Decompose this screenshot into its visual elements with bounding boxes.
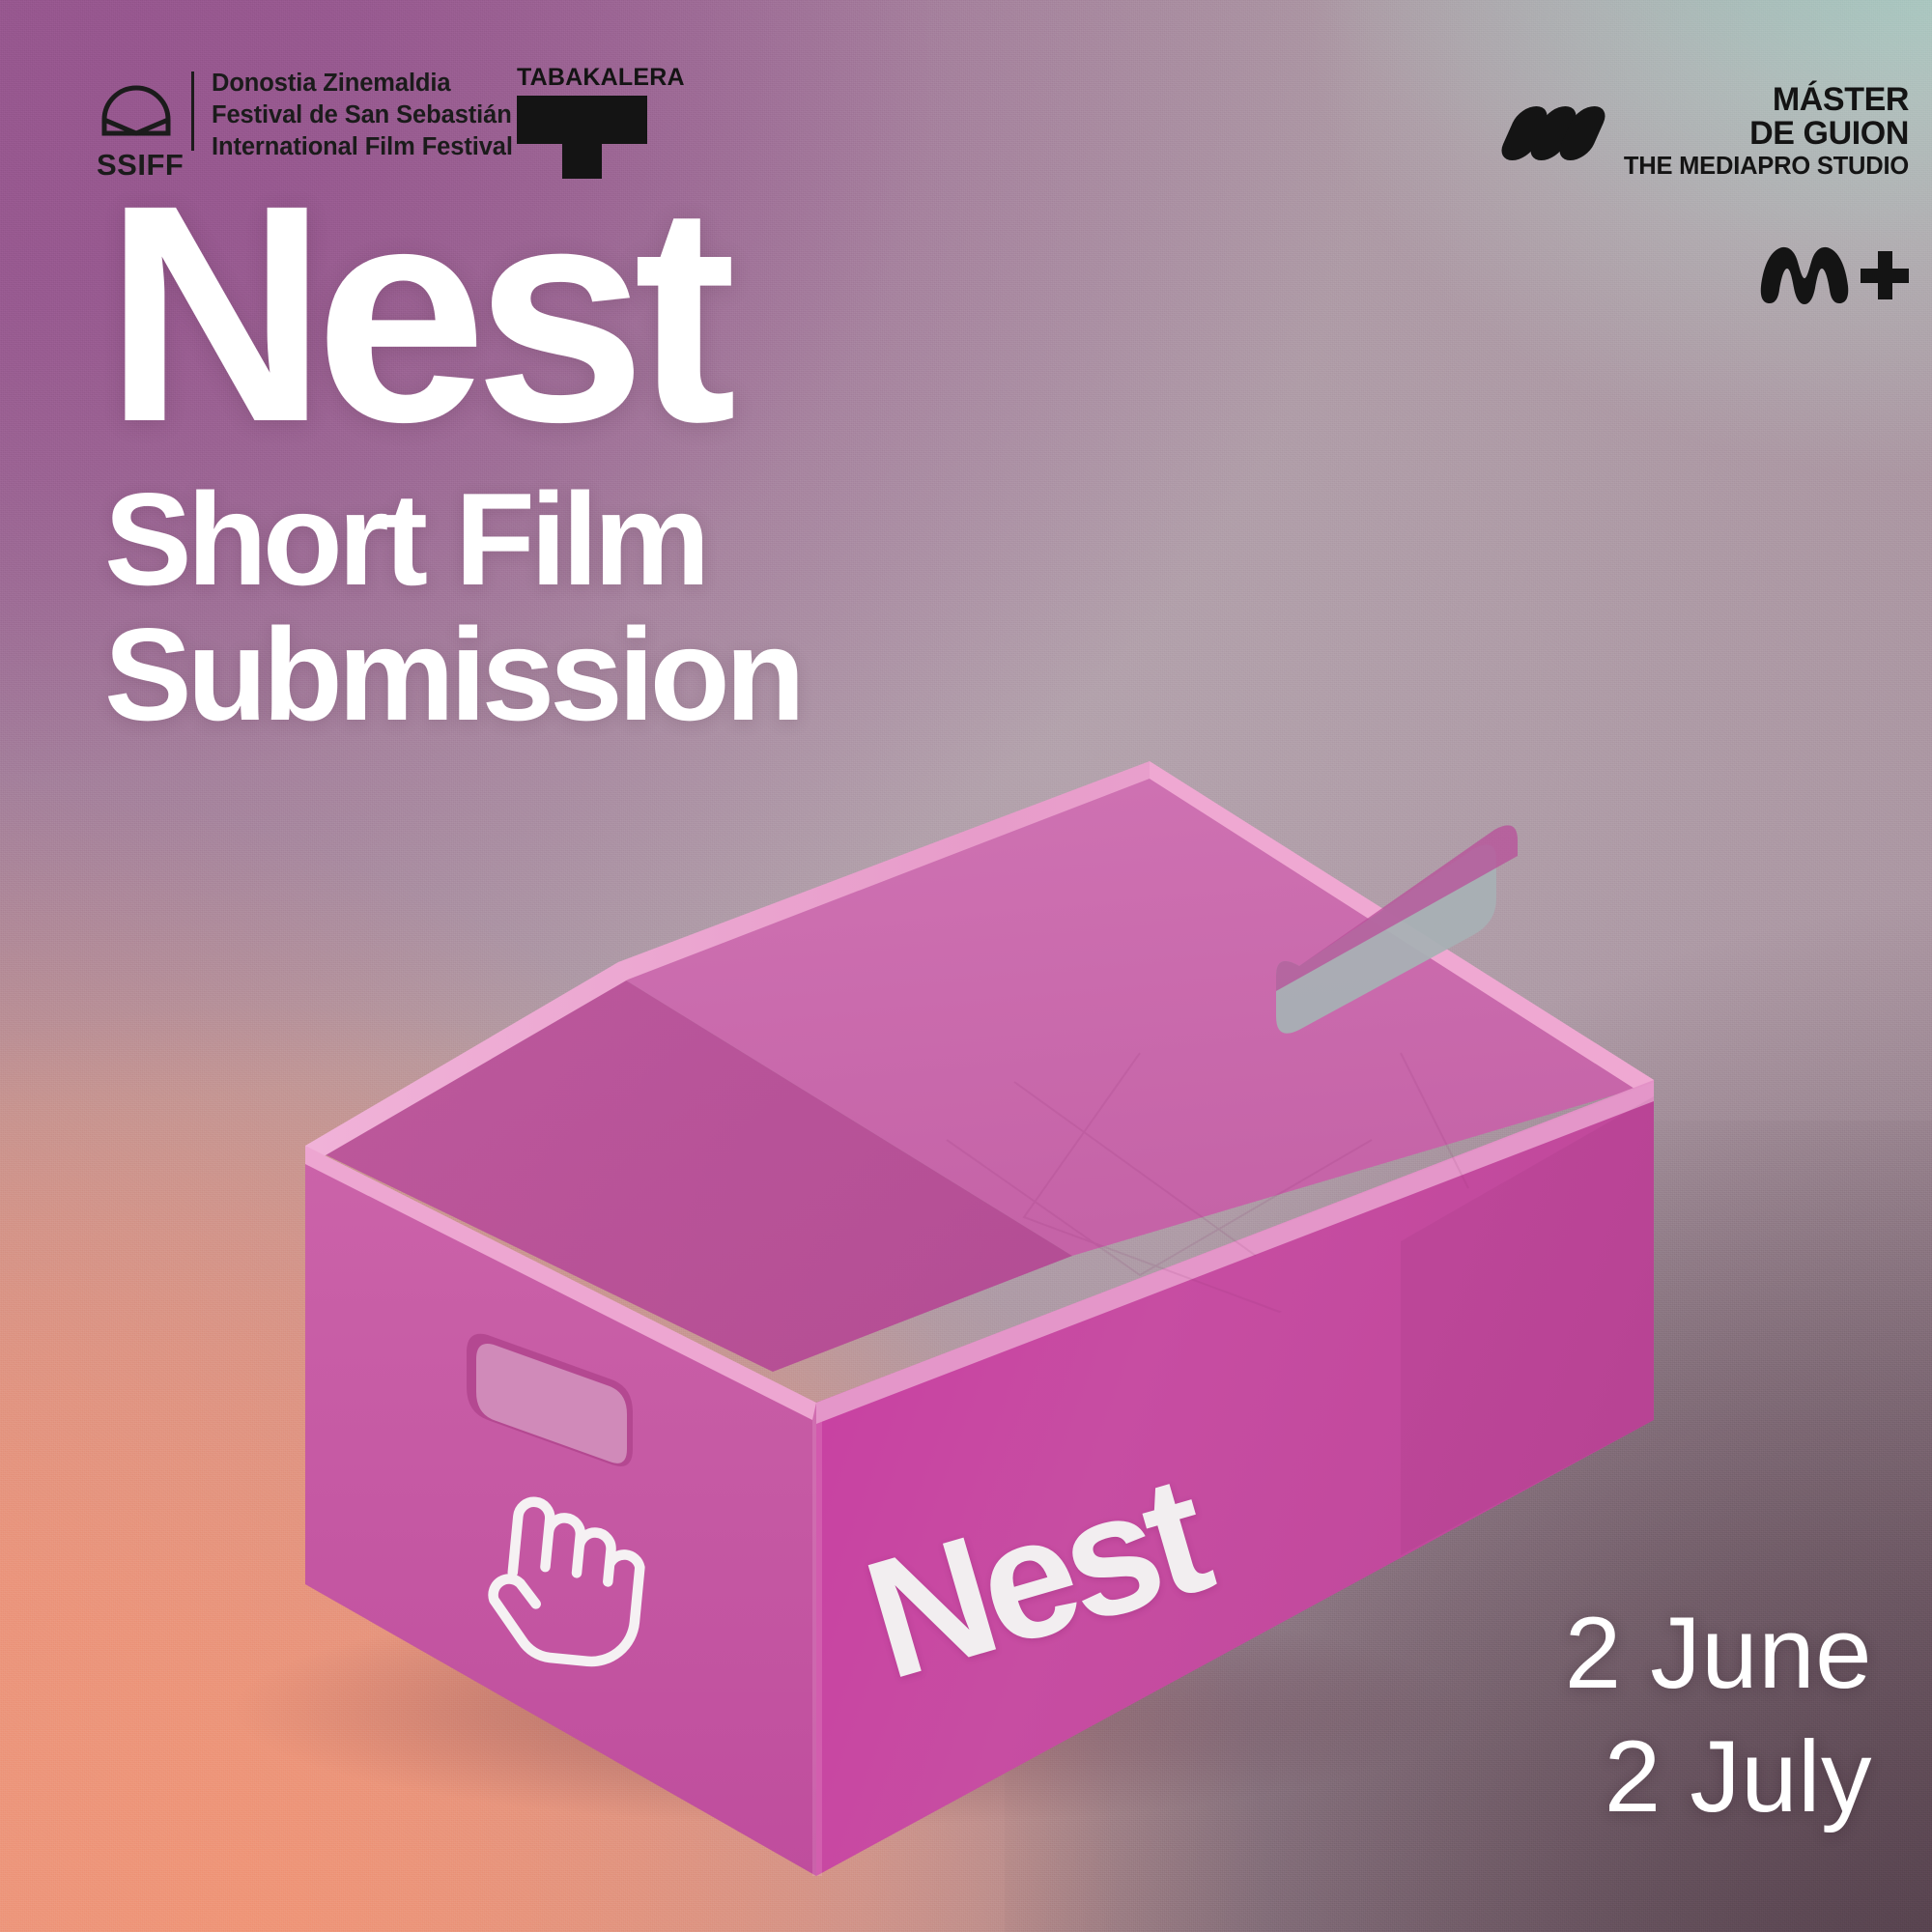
date-start: 2 June xyxy=(1565,1592,1872,1716)
mediapro-text-block: MÁSTER DE GUION THE MEDIAPRO STUDIO xyxy=(1624,83,1909,183)
movistar-plus-logo xyxy=(1760,245,1909,305)
poster-canvas: Nest SSIFF Donostia Zinemaldia Festival … xyxy=(0,0,1932,1932)
submission-dates: 2 June 2 July xyxy=(1565,1592,1872,1839)
scallop-shell-icon xyxy=(97,68,176,143)
plus-icon xyxy=(1861,251,1909,299)
headline-block: Nest Short Film Submission xyxy=(104,189,801,742)
ssiff-line-1: Donostia Zinemaldia xyxy=(212,68,513,99)
page-subtitle: Short Film Submission xyxy=(104,471,801,742)
ssiff-line-2: Festival de San Sebastián xyxy=(212,99,513,131)
mediapro-bars-icon xyxy=(1506,103,1606,163)
tabakalera-t-bar xyxy=(517,96,647,144)
subtitle-line-2: Submission xyxy=(104,607,801,742)
page-title: Nest xyxy=(104,189,801,437)
mediapro-line-1: MÁSTER xyxy=(1624,83,1909,117)
mediapro-line-2: DE GUION xyxy=(1624,117,1909,151)
mediapro-logo: MÁSTER DE GUION THE MEDIAPRO STUDIO xyxy=(1506,83,1909,183)
subtitle-line-1: Short Film xyxy=(104,471,801,607)
movistar-m-icon xyxy=(1760,245,1849,305)
ssiff-divider xyxy=(191,71,194,151)
date-end: 2 July xyxy=(1565,1716,1872,1839)
mediapro-line-3: THE MEDIAPRO STUDIO xyxy=(1624,152,1909,183)
tabakalera-wordmark: TABAKALERA xyxy=(517,66,647,90)
